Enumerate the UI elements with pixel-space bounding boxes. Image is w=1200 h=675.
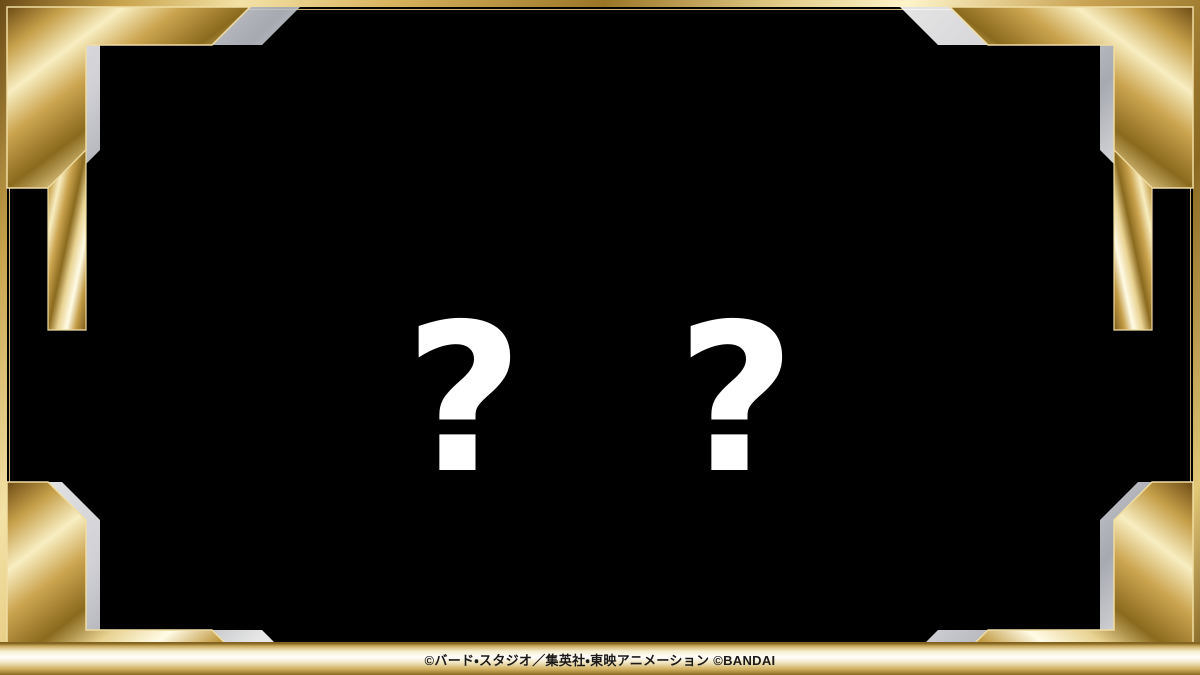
chevron-right-icon: [990, 62, 1016, 90]
copyright-text: ©バード・スタジオ／集英社・東映アニメーション ©BANDAI: [425, 650, 776, 669]
card-face-silver: ?: [346, 235, 582, 573]
copyright-bar: ©バード・スタジオ／集英社・東映アニメーション ©BANDAI: [0, 642, 1200, 675]
reward-card-master[interactable]: ?: [339, 228, 589, 580]
rank-label-god: God ランク: [922, 496, 1068, 535]
disclaimer-note: 詳細は後日公式サイトにて発表いたします。: [704, 599, 1152, 631]
slide-stage: DIGITAL デジタルカードゲーム版 キャンペーン情報 DIGITAL ver…: [0, 0, 1200, 675]
rank-label-master: Master ランク: [112, 496, 293, 535]
digital-version-label: DIGITAL ver.: [1023, 66, 1127, 86]
section-banner: デジタルカードゲーム版 キャンペーン情報: [62, 48, 872, 110]
reward-card-god[interactable]: ?: [611, 228, 861, 580]
chevron-left-icon: [1134, 62, 1160, 90]
question-mark-icon: ?: [405, 298, 524, 503]
question-mark-icon: ?: [677, 298, 796, 503]
banner-title: デジタルカードゲーム版 キャンペーン情報: [114, 57, 708, 101]
digital-version-badge: DIGITAL ver.: [990, 60, 1160, 92]
card-face-gold: ?: [618, 235, 854, 573]
